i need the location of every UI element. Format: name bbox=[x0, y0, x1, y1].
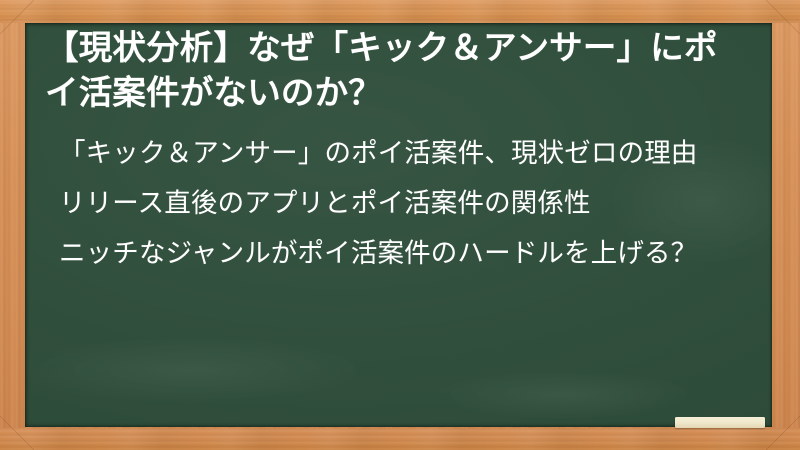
list-item: ニッチなジャンルがポイ活案件のハードルを上げる？ bbox=[45, 236, 742, 272]
chalk-stick bbox=[675, 417, 765, 428]
frame-rail-top bbox=[0, 0, 800, 23]
slide-content: 【現状分析】なぜ「キック＆アンサー」にポイ活案件がないのか？ 「キック＆アンサー… bbox=[45, 27, 742, 427]
blackboard-slide: 【現状分析】なぜ「キック＆アンサー」にポイ活案件がないのか？ 「キック＆アンサー… bbox=[0, 0, 800, 450]
list-item: 「キック＆アンサー」のポイ活案件、現状ゼロの理由 bbox=[45, 136, 742, 172]
list-item: リリース直後のアプリとポイ活案件の関係性 bbox=[45, 186, 742, 222]
frame-rail-bottom bbox=[0, 428, 800, 450]
table-of-contents: 「キック＆アンサー」のポイ活案件、現状ゼロの理由 リリース直後のアプリとポイ活案… bbox=[45, 136, 742, 271]
slide-title: 【現状分析】なぜ「キック＆アンサー」にポイ活案件がないのか？ bbox=[45, 27, 742, 116]
chalkboard-surface: 【現状分析】なぜ「キック＆アンサー」にポイ活案件がないのか？ 「キック＆アンサー… bbox=[25, 23, 772, 427]
